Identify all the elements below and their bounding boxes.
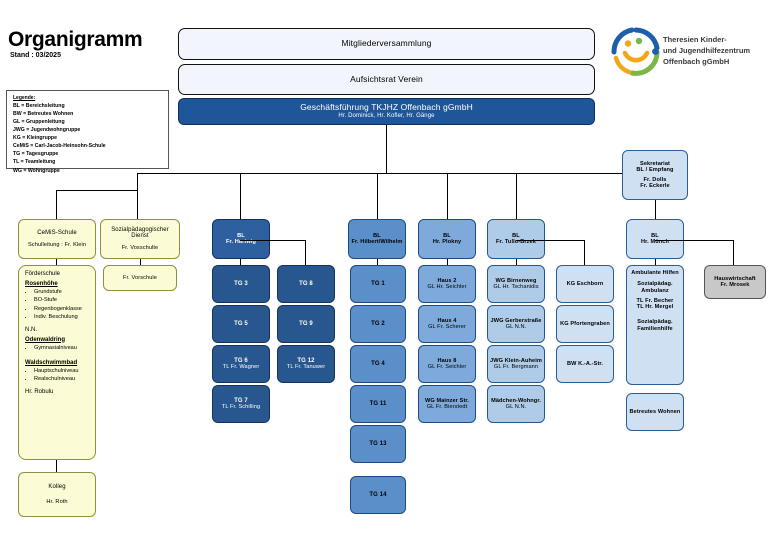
- ambulante-line-6: Familienhilfe: [637, 326, 673, 332]
- node-haus[interactable]: Haus 4 GL Fr. Scherer: [418, 305, 476, 343]
- group-name: Waldschwimmbad: [25, 360, 89, 366]
- legend-item: KG = Kleingruppe: [13, 134, 162, 142]
- foerderschule-heading: Förderschule: [25, 271, 89, 277]
- node-wg[interactable]: WG Mainzer Str. GL Fr. Bierstedt: [418, 385, 476, 423]
- node-ambulante-hilfen[interactable]: Ambulante Hilfen Sozialpädag. Ambulanz T…: [626, 265, 684, 385]
- node-jwg[interactable]: JWG Klein-Auheim GL Fr. Bergmann: [487, 345, 545, 383]
- node-geschaeftsfuehrung[interactable]: Geschäftsführung TKJHZ Offenbach gGmbH H…: [178, 98, 595, 125]
- node-bl-hilbert-wilhelm[interactable]: BL Fr. Hilbert/Wilhelm: [348, 219, 406, 259]
- node-bl-hartwig[interactable]: BL Fr. Hartwig: [212, 219, 270, 259]
- stand-date: Stand : 03/2025: [10, 52, 61, 59]
- connector: [56, 460, 57, 472]
- node-label: Aufsichtsrat Verein: [350, 75, 423, 85]
- sekretariat-line-4: Fr. Eckerle: [640, 183, 669, 189]
- node-line-2: TL Fr. Tanuwer: [287, 364, 325, 370]
- node-line-2: GL Fr. Bierstedt: [427, 404, 468, 410]
- node-tg[interactable]: TG 4: [350, 345, 406, 383]
- node-line-1: TG 4: [371, 361, 385, 368]
- node-bl-plokny[interactable]: BL Hr. Plokny: [418, 219, 476, 259]
- node-line-1: TG 1: [371, 281, 385, 288]
- node-bw[interactable]: BW K.-A.-Str.: [556, 345, 614, 383]
- legend-item: GL = Gruppenleitung: [13, 118, 162, 126]
- group-item: BO-Stufe: [34, 296, 89, 304]
- node-tg[interactable]: TG 2: [350, 305, 406, 343]
- kolleg-line-2: Hr. Roth: [46, 499, 67, 505]
- node-bl-tullo-brzek[interactable]: BL Fr. Tullo-Brzek: [487, 219, 545, 259]
- connector: [377, 173, 378, 219]
- group-item: Gymnasialniveau: [34, 344, 89, 352]
- connector: [305, 240, 306, 265]
- connector: [240, 173, 241, 219]
- node-bl-muench[interactable]: BL Hr. Münch: [626, 219, 684, 259]
- connector: [240, 240, 305, 241]
- node-wg[interactable]: WG Birnenweg GL Hr. Tschanidis: [487, 265, 545, 303]
- node-line-2: GL Hr. Tschanidis: [493, 284, 538, 290]
- node-line-2: Fr. Mrosek: [721, 282, 750, 288]
- group-name: Odenwaldring: [25, 337, 89, 343]
- cemis-line-1: CeMiS-Schule: [37, 230, 77, 237]
- node-tg[interactable]: TG 13: [350, 425, 406, 463]
- node-line-2: GL Fr. Bergmann: [494, 364, 538, 370]
- ambulante-line-4: TL Hr. Mergel: [637, 304, 674, 310]
- node-cemis-schule[interactable]: CeMiS-Schule Schulleitung : Fr. Klein: [18, 219, 96, 259]
- node-kolleg[interactable]: Kolleg Hr. Roth: [18, 472, 96, 517]
- group-item: Realschulniveau: [34, 375, 89, 383]
- connector: [516, 240, 584, 241]
- node-sozialpaedagogischer-dienst[interactable]: Sozialpädagogischer Dienst Fr. Vosschult…: [100, 219, 180, 259]
- node-betreutes-wohnen[interactable]: Betreutes Wohnen: [626, 393, 684, 431]
- connector: [56, 190, 138, 191]
- node-aufsichtsrat[interactable]: Aufsichtsrat Verein: [178, 64, 595, 95]
- connector: [386, 125, 387, 173]
- node-tg[interactable]: TG 3: [212, 265, 270, 303]
- group-items: Grundstufe BO-Stufe Regenbogenklasse Ind…: [25, 288, 89, 322]
- node-tg[interactable]: TG 5: [212, 305, 270, 343]
- vorschule-label: Fr. Vorschule: [123, 275, 157, 281]
- kolleg-line-1: Kolleg: [48, 484, 65, 491]
- sozialpaed-line-3: Fr. Vosschulte: [122, 245, 159, 251]
- node-line-2: TL Fr. Wagner: [223, 364, 260, 370]
- node-vorschule[interactable]: Fr. Vorschule: [103, 265, 177, 291]
- node-tg[interactable]: TG 12 TL Fr. Tanuwer: [277, 345, 335, 383]
- node-line-1: KG Pfortengraben: [560, 321, 610, 327]
- group-lead: Hr. Robulu: [25, 389, 89, 395]
- node-jwg[interactable]: JWG Gerberstraße GL N.N.: [487, 305, 545, 343]
- node-line-2: GL Fr. Seichler: [428, 364, 467, 370]
- node-line-1: TG 12: [297, 358, 314, 365]
- logo-line-3: Offenbach gGmbH: [663, 57, 750, 68]
- connector: [584, 240, 585, 265]
- node-haus[interactable]: Haus 2 GL Hr. Seichler: [418, 265, 476, 303]
- node-line-2: TL Fr. Schilling: [222, 404, 260, 410]
- group-items: Hauptschulniveau Realschulniveau: [25, 367, 89, 384]
- node-line-2: GL Hr. Seichler: [427, 284, 466, 290]
- node-line-1: TG 14: [369, 492, 386, 499]
- connector: [56, 190, 57, 219]
- node-tg[interactable]: TG 9: [277, 305, 335, 343]
- node-haus[interactable]: Haus 8 GL Fr. Seichler: [418, 345, 476, 383]
- group-name: Rosenhöhe: [25, 281, 89, 287]
- node-line-1: TG 11: [370, 401, 387, 408]
- cemis-line-2: Schulleitung : Fr. Klein: [28, 242, 86, 248]
- node-line-1: TG 2: [371, 321, 385, 328]
- node-label: Mitgliederversammlung: [342, 39, 432, 49]
- connector: [137, 173, 655, 174]
- group-item: Indiv. Beschulung: [34, 313, 89, 321]
- node-line-1: TG 3: [234, 281, 248, 288]
- node-wg[interactable]: Mädchen-Wohngr. GL N.N.: [487, 385, 545, 423]
- ambulante-line-2: Ambulanz: [641, 288, 669, 294]
- node-tg[interactable]: TG 8: [277, 265, 335, 303]
- node-mitgliederversammlung[interactable]: Mitgliederversammlung: [178, 28, 595, 60]
- sekretariat-line-2: BL / Empfang: [636, 167, 673, 173]
- legend-box: Legende: BL = Bereichsleitung BW = Betre…: [6, 90, 169, 169]
- group-item: Regenbogenklasse: [34, 305, 89, 313]
- node-line-1: TG 6: [234, 358, 248, 365]
- connector: [447, 173, 448, 219]
- connector: [733, 240, 734, 265]
- node-foerderschule[interactable]: Förderschule Rosenhöhe Grundstufe BO-Stu…: [18, 265, 96, 460]
- bl-name: Hr. Plokny: [433, 239, 461, 245]
- node-line-1: Betreutes Wohnen: [630, 409, 681, 415]
- ambulante-heading: Ambulante Hilfen: [631, 270, 679, 276]
- node-line-1: KG Eschborn: [567, 281, 604, 287]
- connector: [137, 173, 138, 219]
- legend-item: TL = Teamleitung: [13, 158, 162, 166]
- legend-item: TG = Tagesgruppe: [13, 150, 162, 158]
- connector: [655, 240, 733, 241]
- logo-line-2: und Jugendhilfezentrum: [663, 46, 750, 57]
- legend-item: JWG = Jugendwohngruppe: [13, 126, 162, 134]
- node-line-1: BW K.-A.-Str.: [567, 361, 603, 367]
- node-tg[interactable]: TG 14: [350, 476, 406, 514]
- page-title: Organigramm: [8, 28, 142, 52]
- node-line-1: TG 8: [299, 281, 313, 288]
- company-logo-icon: [610, 26, 662, 78]
- group-item: Grundstufe: [34, 288, 89, 296]
- logo-text: Theresien Kinder- und Jugendhilfezentrum…: [663, 35, 750, 68]
- group-lead: N.N.: [25, 327, 89, 333]
- sozialpaed-line-2: Dienst: [131, 233, 149, 240]
- node-tg[interactable]: TG 1: [350, 265, 406, 303]
- legend-item: CeMiS = Carl-Jacob-Heinsohn-Schule: [13, 142, 162, 150]
- bl-name: Fr. Hilbert/Wilhelm: [352, 239, 403, 245]
- node-line-2: GL N.N.: [506, 404, 527, 410]
- legend-title: Legende:: [13, 95, 162, 101]
- node-line-1: TG 5: [234, 321, 248, 328]
- sozialpaed-line-1: Sozialpädagogischer: [111, 227, 169, 234]
- node-sekretariat[interactable]: Sekretariat BL / Empfang Fr. Dolls Fr. E…: [622, 150, 688, 200]
- group-items: Gymnasialniveau: [25, 344, 89, 352]
- organigramm-canvas: Organigramm Stand : 03/2025 Legende: BL …: [0, 0, 780, 540]
- node-tg[interactable]: TG 6 TL Fr. Wagner: [212, 345, 270, 383]
- node-kg[interactable]: KG Eschborn: [556, 265, 614, 303]
- connector: [516, 173, 517, 219]
- node-tg[interactable]: TG 7 TL Fr. Schilling: [212, 385, 270, 423]
- node-line-1: TG 9: [299, 321, 313, 328]
- node-line-2: GL N.N.: [506, 324, 527, 330]
- node-hauswirtschaft[interactable]: Hauswirtschaft Fr. Mrosek: [704, 265, 766, 299]
- legend-item: BL = Bereichsleitung: [13, 102, 162, 110]
- node-line-2: GL Fr. Scherer: [428, 324, 466, 330]
- node-line-1: TG 7: [234, 398, 248, 405]
- node-names: Hr. Dominick, Hr. Kofler, Hr. Gänge: [338, 113, 434, 120]
- node-kg[interactable]: KG Pfortengraben: [556, 305, 614, 343]
- node-tg[interactable]: TG 11: [350, 385, 406, 423]
- logo-line-1: Theresien Kinder-: [663, 35, 750, 46]
- group-item: Hauptschulniveau: [34, 367, 89, 375]
- legend-item: BW = Betreutes Wohnen: [13, 110, 162, 118]
- node-title: Geschäftsführung TKJHZ Offenbach gGmbH: [300, 103, 473, 113]
- node-line-1: TG 13: [369, 441, 386, 448]
